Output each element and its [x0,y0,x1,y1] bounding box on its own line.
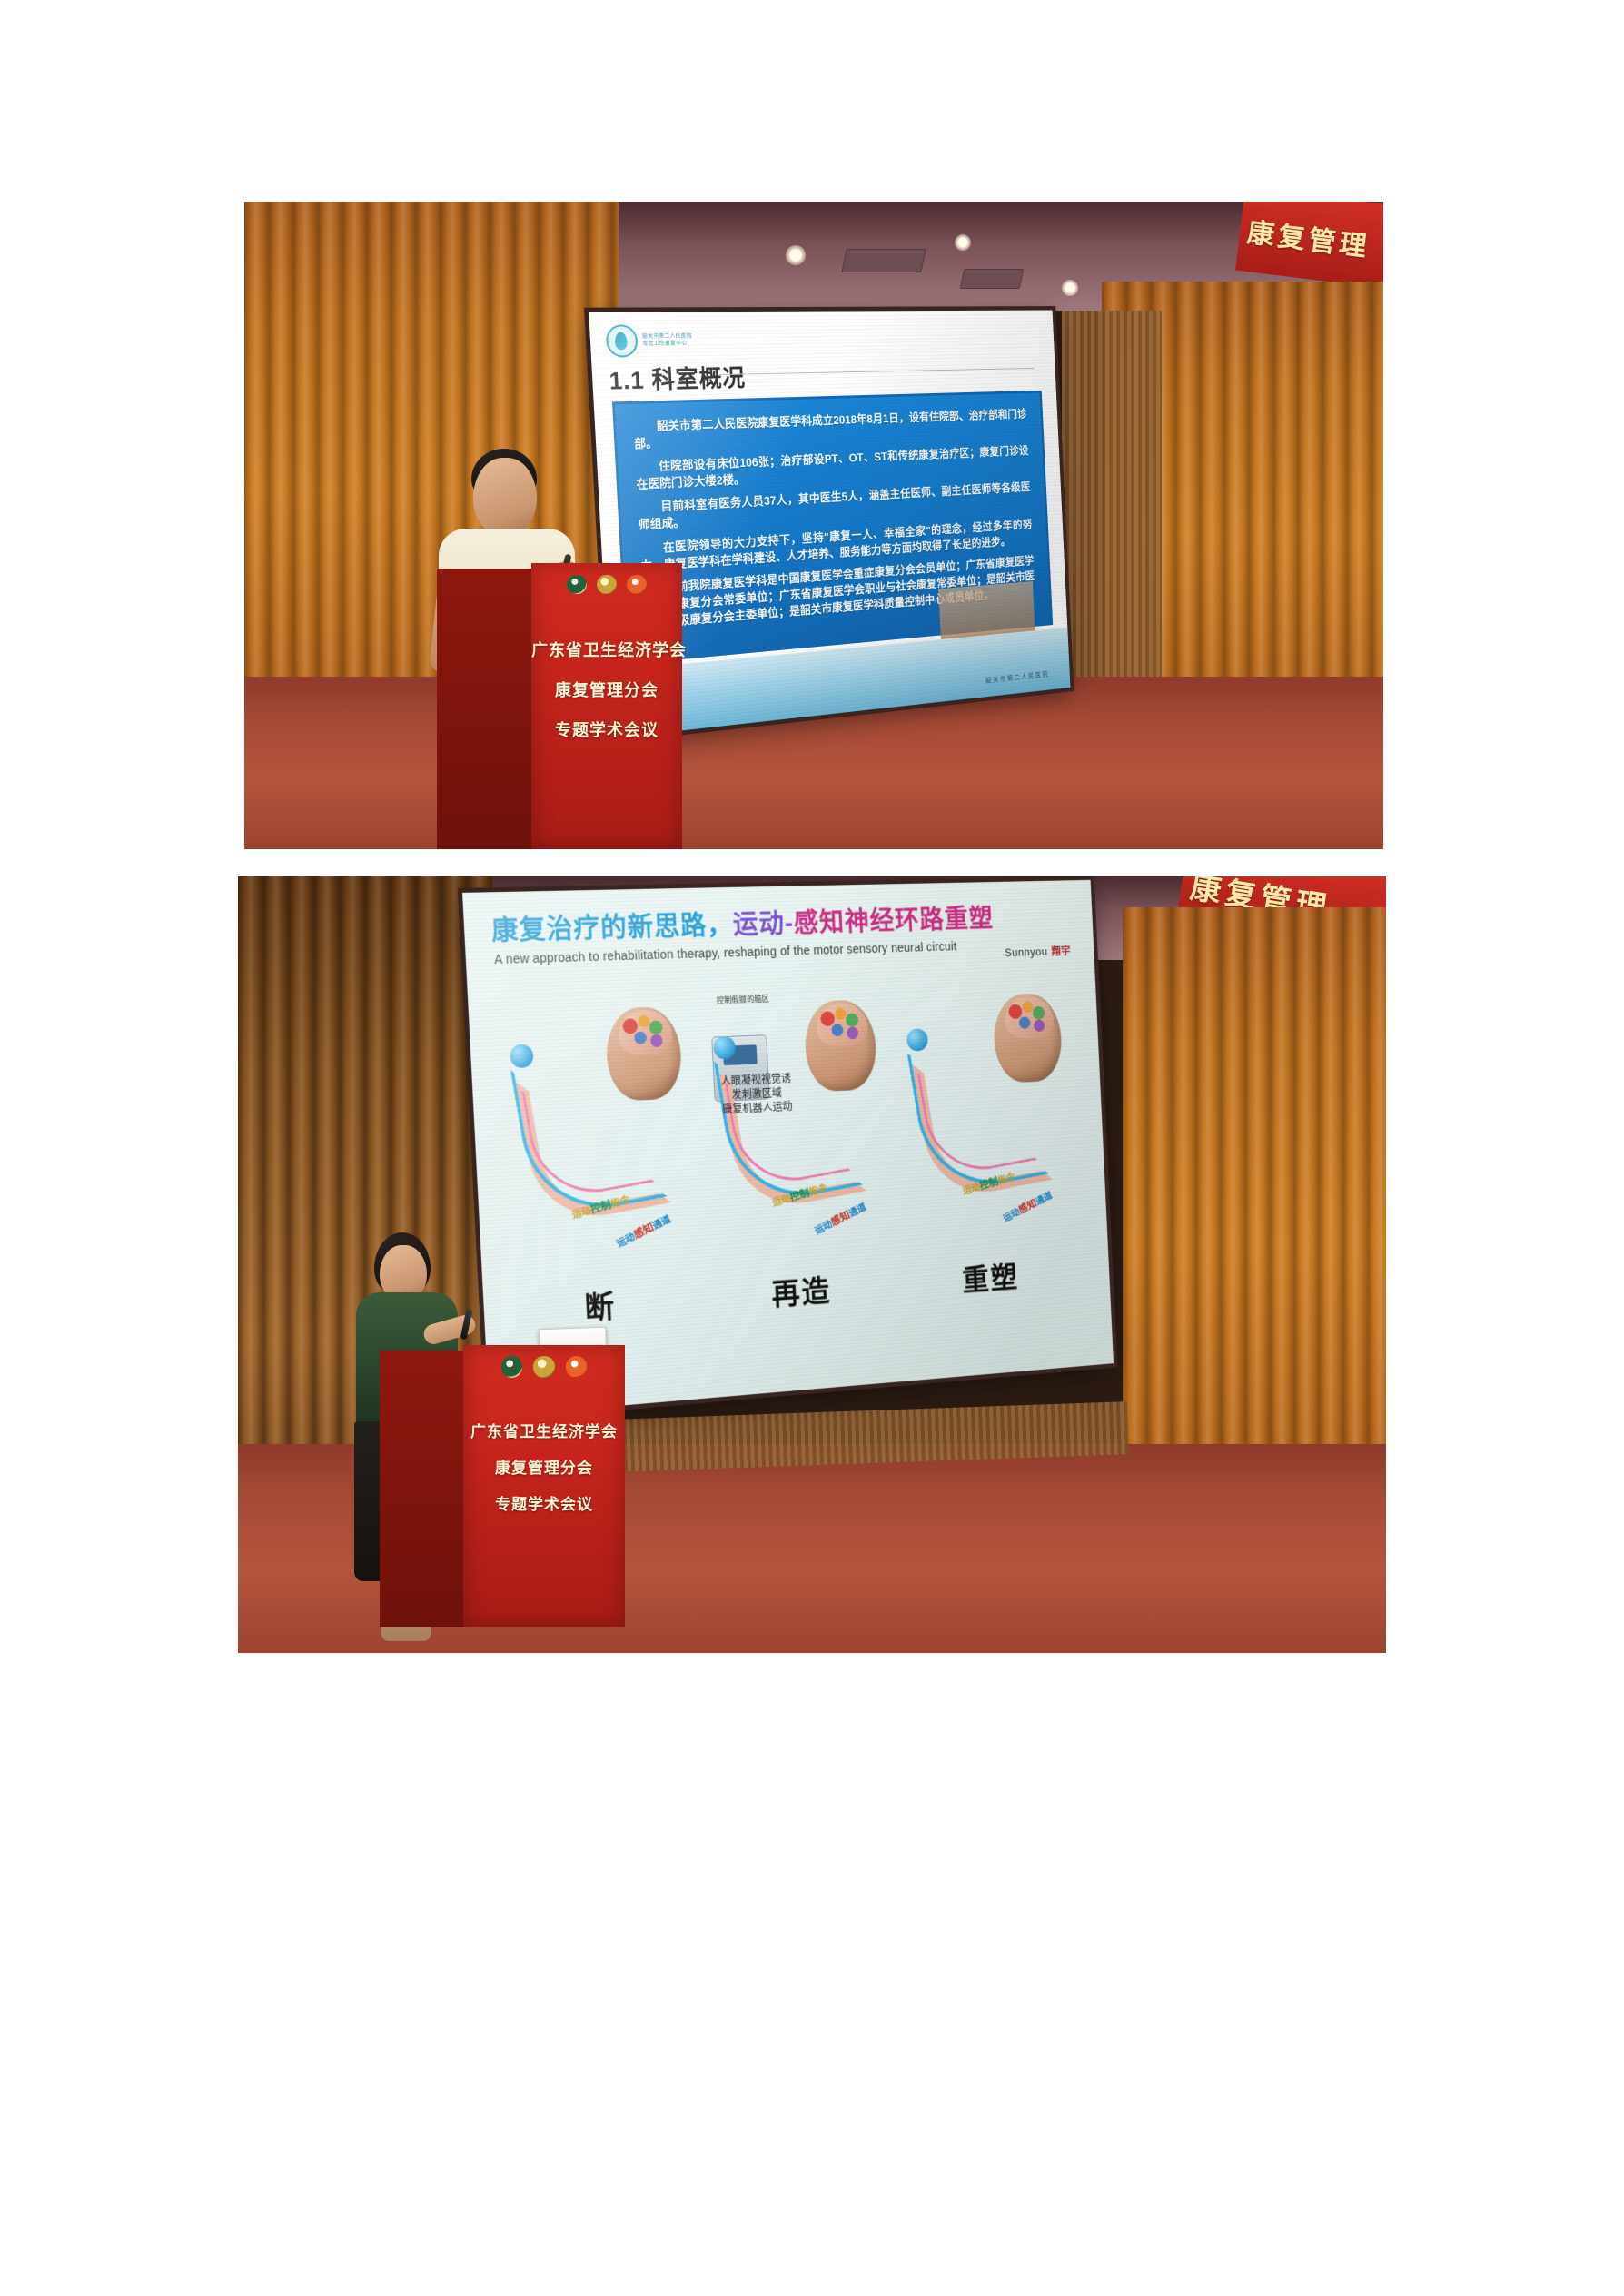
podium-side-1 [437,569,537,849]
sense-label-3: 运动感知通道 [1001,1187,1055,1224]
grip-ball-1 [510,1044,535,1069]
stage-label-1: 断 [583,1282,617,1329]
panel-2-caption: 人眼凝视视觉诱 发刺激区域 康复机器人运动 [714,1071,800,1117]
podium-line-2a: 广东省卫生经济学会 [463,1419,625,1441]
diagram-panel-3: 运动控制指令 运动感知通道 [899,983,1084,1247]
podium-front-1: 广东省卫生经济学会 康复管理分会 专题学术会议 [531,563,682,849]
wall-panel-1 [1062,311,1162,737]
diagram-panel-2: 控制假肢的脑区 人眼凝视视觉诱 发刺激区域 康复机器人运动 运动控制指令 运动感… [706,989,900,1260]
podium-side-2 [380,1351,467,1627]
robot-region-label: 控制假肢的脑区 [706,993,780,1006]
stage-label-2: 再造 [770,1267,832,1314]
hall-banner-text-1: 康复管理 [1245,210,1372,264]
stage-label-3: 重塑 [961,1254,1019,1300]
society-emblem-green-icon [567,575,587,595]
hospital-logo-icon [605,324,638,357]
conference-photo-2: 康复管理 康复治疗的新思路，运动-感知神经环路重塑 A new approach… [238,876,1386,1653]
podium-front-2: 广东省卫生经济学会 康复管理分会 专题学术会议 [463,1345,625,1627]
brand-logo: Sunnyou翔宇 [1005,944,1071,960]
slide-title-2-part1: 康复治疗的新思路， [490,910,734,945]
ceiling-vent-2 [960,269,1025,289]
grip-ball-3 [906,1029,928,1052]
slide-title-1: 1.1 科室概况 [609,359,747,396]
brand-name-cn: 翔宇 [1051,945,1071,958]
hospital-logo-text: 韶关市第二人民医院 粤北工伤康复中心 [642,333,693,349]
slide-title-2-part3: 感知神经环路重塑 [793,905,994,938]
slide-city-image [938,581,1035,639]
podium-emblems-2 [463,1356,625,1377]
diagram-panel-1: 运动控制指令 运动感知通道 [502,995,707,1273]
podium-2: 广东省卫生经济学会 康复管理分会 专题学术会议 [380,1345,625,1627]
document-page: 康复管理 韶关市第二人民医院 粤北工伤康复中心 1.1 科室概况 科室概况 韶关… [0,0,1624,2296]
podium-line-1b: 康复管理分会 [531,678,682,701]
sense-label-1: 运动感知通道 [614,1211,673,1251]
sense-label-2: 运动感知通道 [812,1199,868,1238]
society-emblem-gold-icon [597,575,617,595]
ceiling-vent-1 [841,249,926,272]
podium-1: 广东省卫生经济学会 康复管理分会 专题学术会议 [437,563,682,849]
ceiling-spotlight-3 [1062,280,1078,296]
podium-line-1c: 专题学术会议 [531,717,682,741]
podium-line-2b: 康复管理分会 [463,1455,625,1478]
hospital-logo: 韶关市第二人民医院 粤北工伤康复中心 [605,324,693,358]
society-emblem-red-icon [566,1356,587,1377]
slide-title-rule [718,368,1034,375]
podium-line-2c: 专题学术会议 [463,1491,625,1514]
podium-line-1a: 广东省卫生经济学会 [531,638,682,661]
society-emblem-red-icon [627,575,647,595]
society-emblem-gold-icon [533,1356,554,1377]
brand-name: Sunnyou [1005,945,1048,959]
ceiling-spotlight-2 [955,234,971,251]
speaker-head [473,458,537,536]
ceiling-spotlight-1 [786,245,806,265]
podium-emblems-1 [531,575,682,595]
conference-photo-1: 康复管理 韶关市第二人民医院 粤北工伤康复中心 1.1 科室概况 科室概况 韶关… [244,202,1383,849]
society-emblem-green-icon [501,1356,522,1377]
slide-title-2-part2: 运动- [732,909,795,940]
